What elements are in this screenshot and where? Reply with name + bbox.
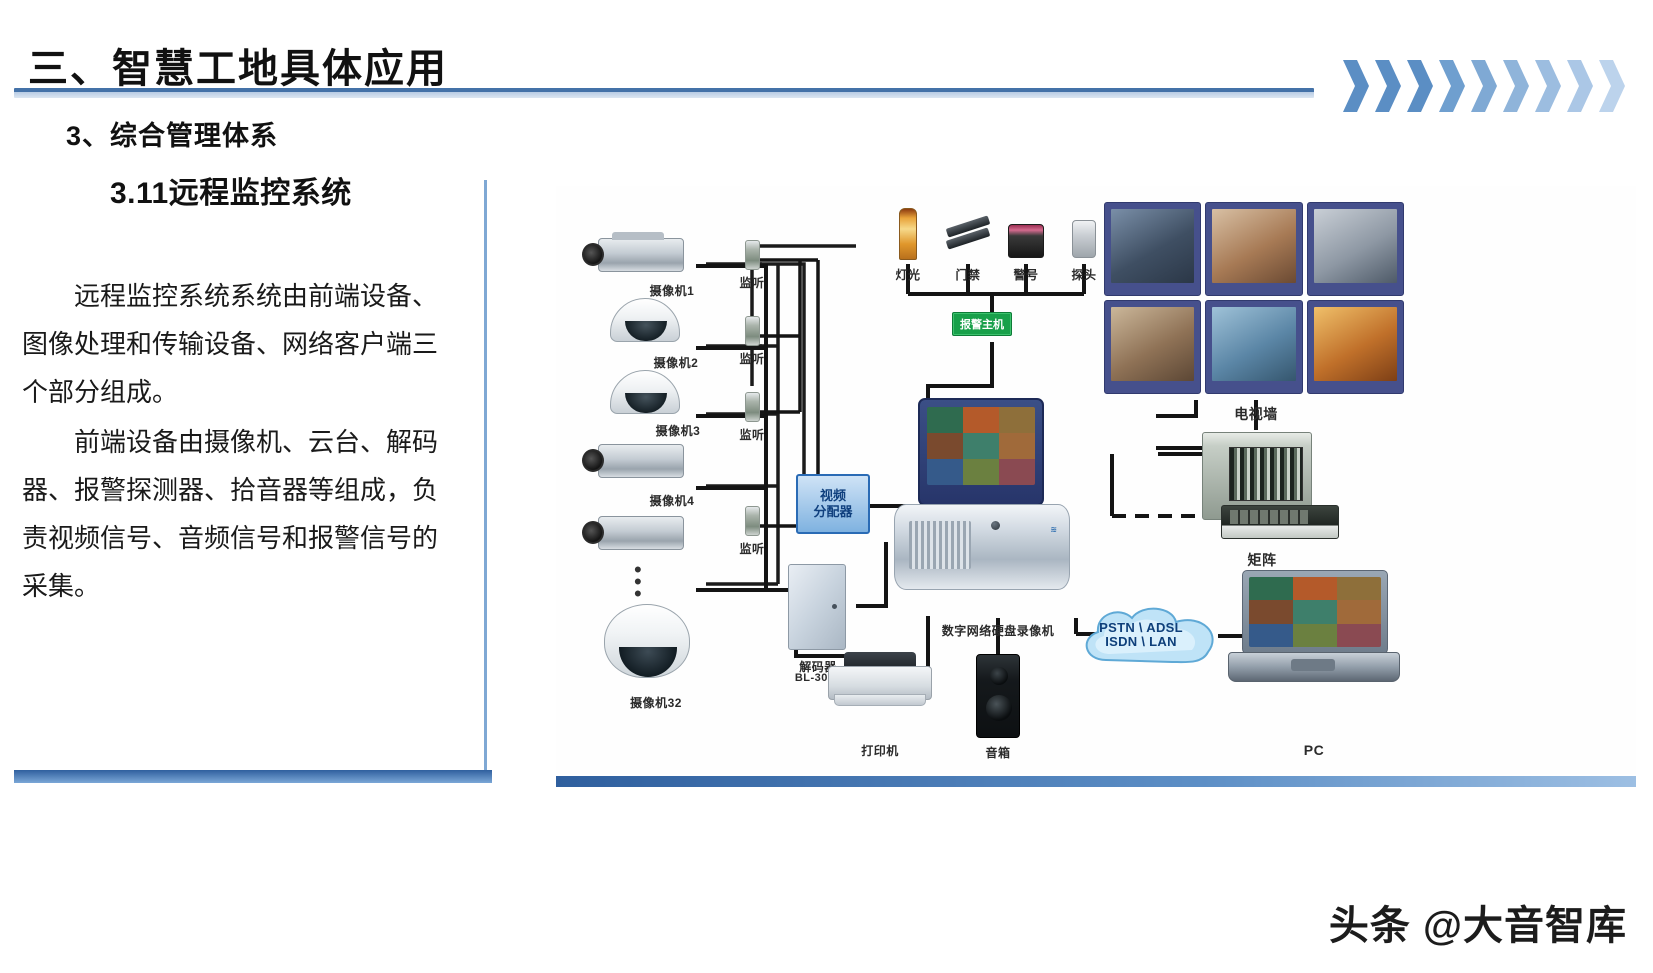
page-title: 三、智慧工地具体应用 bbox=[28, 36, 448, 94]
ellipsis-dot: • bbox=[634, 588, 642, 600]
speaker-icon bbox=[976, 654, 1020, 738]
section-heading: 3、综合管理体系 bbox=[66, 114, 278, 153]
video-distributor-line1: 视频 bbox=[820, 488, 846, 504]
tv-wall-cell bbox=[1205, 300, 1302, 394]
chevron-icon bbox=[1375, 60, 1401, 112]
laptop-screen bbox=[1249, 577, 1381, 647]
chevron-icon bbox=[1599, 60, 1625, 112]
listening-device-4 bbox=[745, 506, 760, 536]
microphone-icon bbox=[745, 316, 760, 346]
subsection-heading: 3.11远程监控系统 bbox=[110, 168, 352, 212]
decoder-device bbox=[788, 564, 846, 650]
laptop-trackpad[interactable] bbox=[1291, 659, 1335, 671]
printer-icon bbox=[828, 652, 932, 714]
camera-lens-icon bbox=[582, 243, 604, 266]
dvr-tile bbox=[999, 407, 1035, 433]
camera-2-label: 摄像机2 bbox=[654, 354, 699, 371]
camera-3 bbox=[610, 370, 680, 414]
detector-probe-icon bbox=[1072, 220, 1096, 258]
camera-32-ptz bbox=[604, 604, 690, 678]
vertical-divider bbox=[484, 180, 487, 780]
network-cloud: PSTN \ ADSL ISDN \ LAN bbox=[1076, 604, 1206, 666]
title-rule bbox=[14, 88, 1314, 98]
dvr-brand-logo: ≋ bbox=[1050, 525, 1057, 534]
printer-label: 打印机 bbox=[861, 742, 899, 759]
box-camera-icon bbox=[598, 444, 684, 478]
matrix-control-panel bbox=[1221, 505, 1339, 539]
tv-wall-grid bbox=[1104, 202, 1404, 394]
tv-wall-label: 电视墙 bbox=[1234, 404, 1278, 424]
camera-5 bbox=[598, 516, 684, 550]
matrix-icon bbox=[1202, 432, 1312, 520]
remote-monitoring-diagram: 摄像机1 摄像机2 摄像机3 摄像机4 • • • bbox=[556, 186, 1636, 774]
camera-2 bbox=[610, 298, 680, 342]
dvr-monitor-icon bbox=[918, 398, 1044, 506]
tv-wall-cell bbox=[1307, 300, 1404, 394]
siren-icon bbox=[1008, 224, 1044, 258]
dvr-tile bbox=[927, 459, 963, 485]
access-control-device bbox=[946, 220, 992, 254]
watermark: 头条 @大音智库 bbox=[1329, 893, 1627, 951]
chevron-icon bbox=[1535, 60, 1561, 112]
chevron-icon bbox=[1567, 60, 1593, 112]
printer-device bbox=[828, 652, 932, 714]
listening-device-3-label: 监听 bbox=[739, 426, 764, 443]
camera-4 bbox=[598, 444, 684, 478]
laptop-lid bbox=[1242, 570, 1388, 654]
listening-device-2 bbox=[745, 316, 760, 346]
matrix-device bbox=[1202, 432, 1312, 520]
dvr-tile bbox=[927, 433, 963, 459]
body-paragraph: 前端设备由摄像机、云台、解码器、报警探测器、拾音器等组成，负责视频信号、音频信号… bbox=[22, 418, 452, 610]
probe-label: 探头 bbox=[1071, 266, 1096, 283]
box-camera-icon bbox=[598, 238, 684, 272]
chevron-decoration bbox=[1343, 60, 1633, 112]
microphone-icon bbox=[745, 392, 760, 422]
siren-device bbox=[1008, 224, 1044, 258]
chevron-icon bbox=[1503, 60, 1529, 112]
matrix-keypad[interactable] bbox=[1230, 510, 1308, 524]
speaker-device bbox=[976, 654, 1020, 738]
camera-lens-icon bbox=[582, 521, 604, 544]
video-distributor-box: 视频 分配器 bbox=[796, 474, 870, 534]
cloud-label-wrap: PSTN \ ADSL ISDN \ LAN bbox=[1076, 604, 1206, 666]
dome-camera-icon bbox=[610, 298, 680, 342]
dvr-vent bbox=[909, 521, 971, 569]
chevron-icon bbox=[1471, 60, 1497, 112]
pc-label: PC bbox=[1304, 742, 1324, 758]
tv-wall-cell bbox=[1104, 202, 1201, 296]
microphone-icon bbox=[745, 240, 760, 270]
tv-wall-cell bbox=[1104, 300, 1201, 394]
bottom-bar-right bbox=[556, 776, 1636, 787]
dvr-chassis-icon: ≋ bbox=[894, 504, 1070, 590]
speaker-label: 音箱 bbox=[985, 744, 1010, 761]
dvr-power-button[interactable] bbox=[991, 521, 1000, 530]
alarm-host-label: 报警主机 bbox=[952, 312, 1012, 336]
body-paragraph: 远程监控系统系统由前端设备、图像处理和传输设备、网络客户端三个部分组成。 bbox=[22, 272, 452, 416]
tv-wall-cell bbox=[1307, 202, 1404, 296]
body-text: 远程监控系统系统由前端设备、图像处理和传输设备、网络客户端三个部分组成。 前端设… bbox=[22, 272, 452, 612]
matrix-cards bbox=[1229, 447, 1303, 501]
laptop-base[interactable] bbox=[1228, 652, 1400, 682]
camera-1-label: 摄像机1 bbox=[650, 282, 695, 299]
dvr-device: ≋ bbox=[918, 398, 1070, 590]
dvr-tile bbox=[999, 433, 1035, 459]
listening-device-1-label: 监听 bbox=[739, 274, 764, 291]
tv-wall bbox=[1104, 202, 1404, 394]
cloud-line2: ISDN \ LAN bbox=[1099, 635, 1183, 649]
dvr-label: 数字网络硬盘录像机 bbox=[942, 622, 1055, 639]
camera-top-icon bbox=[612, 232, 664, 240]
microphone-icon bbox=[745, 506, 760, 536]
printer-tray bbox=[834, 694, 926, 706]
bottom-bar-left bbox=[14, 770, 492, 783]
camera-lens-icon bbox=[582, 449, 604, 472]
video-distributor: 视频 分配器 bbox=[796, 474, 870, 534]
listening-device-4-label: 监听 bbox=[739, 540, 764, 557]
matrix-label: 矩阵 bbox=[1248, 550, 1277, 570]
listening-device-2-label: 监听 bbox=[739, 350, 764, 367]
tv-wall-cell bbox=[1205, 202, 1302, 296]
ptz-dome-camera-icon bbox=[604, 604, 690, 678]
pc-laptop bbox=[1228, 570, 1400, 688]
slide-canvas: 三、智慧工地具体应用 3、综合管理体系 3.11远程监控系统 bbox=[0, 0, 1653, 973]
chevron-icon bbox=[1439, 60, 1465, 112]
listening-device-3 bbox=[745, 392, 760, 422]
camera-1 bbox=[598, 238, 684, 272]
dvr-tile bbox=[963, 459, 999, 485]
chevron-icon bbox=[1343, 60, 1369, 112]
box-camera-icon bbox=[598, 516, 684, 550]
dvr-screen bbox=[927, 407, 1035, 485]
alarm-host: 报警主机 bbox=[952, 312, 1012, 336]
cloud-text: PSTN \ ADSL ISDN \ LAN bbox=[1099, 621, 1183, 649]
camera-3-label: 摄像机3 bbox=[656, 422, 701, 439]
listening-device-1 bbox=[745, 240, 760, 270]
chevron-icon bbox=[1407, 60, 1433, 112]
decoder-icon bbox=[788, 564, 846, 650]
camera-4-label: 摄像机4 bbox=[650, 492, 695, 509]
dvr-tile bbox=[927, 407, 963, 433]
light-device bbox=[899, 208, 917, 260]
dvr-tile bbox=[999, 459, 1035, 485]
access-control-icon bbox=[946, 220, 992, 254]
siren-label: 警号 bbox=[1013, 266, 1038, 283]
warning-light-icon bbox=[899, 208, 917, 260]
dome-camera-icon bbox=[610, 370, 680, 414]
video-distributor-line2: 分配器 bbox=[813, 504, 852, 520]
laptop-icon bbox=[1228, 570, 1400, 688]
light-label: 灯光 bbox=[895, 266, 920, 283]
camera-32-label: 摄像机32 bbox=[630, 694, 682, 711]
access-label: 门禁 bbox=[955, 266, 980, 283]
dvr-tile bbox=[963, 407, 999, 433]
dvr-tile bbox=[963, 433, 999, 459]
cloud-line1: PSTN \ ADSL bbox=[1099, 621, 1183, 635]
probe-device bbox=[1072, 220, 1096, 258]
camera-ellipsis: • • • bbox=[634, 564, 642, 600]
